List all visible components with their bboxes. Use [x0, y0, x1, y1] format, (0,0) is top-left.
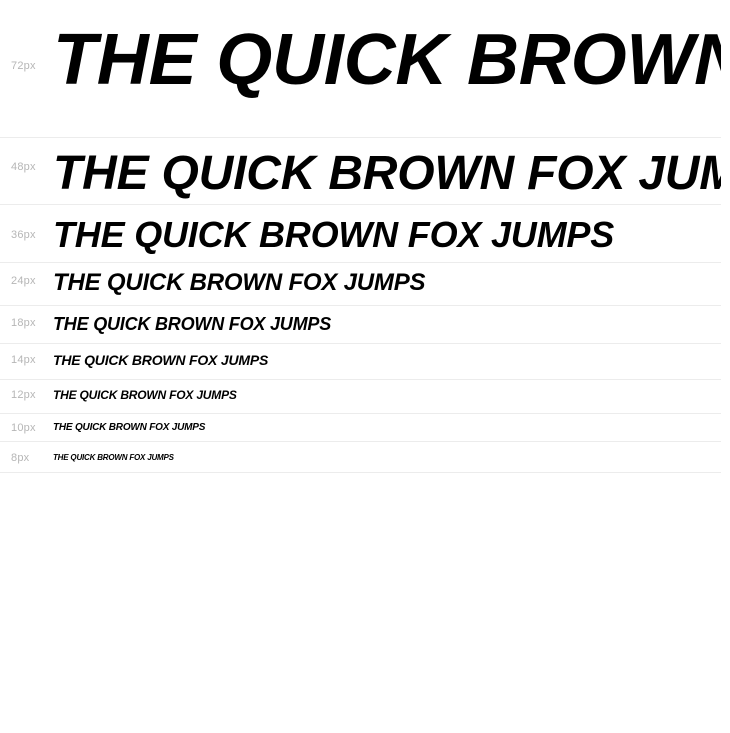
specimen-row: 18pxTHE QUICK BROWN FOX JUMPS: [0, 306, 721, 344]
specimen-row: 72pxTHE QUICK BROWN FOX JUMPS: [0, 0, 721, 138]
size-label: 12px: [11, 389, 36, 401]
specimen-row-list: 72pxTHE QUICK BROWN FOX JUMPS48pxTHE QUI…: [0, 0, 730, 473]
size-label: 48px: [11, 161, 36, 173]
empty-page-area: [0, 473, 730, 733]
specimen-row: 12pxTHE QUICK BROWN FOX JUMPS: [0, 380, 721, 414]
sample-text: THE QUICK BROWN FOX JUMPS: [53, 389, 237, 401]
specimen-row: 8pxTHE QUICK BROWN FOX JUMPS: [0, 442, 721, 473]
size-label: 18px: [11, 317, 36, 329]
sample-text: THE QUICK BROWN FOX JUMPS: [53, 217, 614, 254]
specimen-row: 10pxTHE QUICK BROWN FOX JUMPS: [0, 414, 721, 442]
size-label: 24px: [11, 275, 36, 287]
sample-text: THE QUICK BROWN FOX JUMPS: [53, 454, 174, 462]
size-label: 36px: [11, 229, 36, 241]
size-label: 72px: [11, 60, 36, 72]
size-label: 14px: [11, 354, 36, 366]
specimen-row: 14pxTHE QUICK BROWN FOX JUMPS: [0, 344, 721, 380]
specimen-row: 24pxTHE QUICK BROWN FOX JUMPS: [0, 263, 721, 306]
size-label: 10px: [11, 422, 36, 434]
sample-text: THE QUICK BROWN FOX JUMPS: [53, 423, 205, 433]
specimen-row: 48pxTHE QUICK BROWN FOX JUMPS: [0, 138, 721, 205]
font-size-specimen-sheet: 72pxTHE QUICK BROWN FOX JUMPS48pxTHE QUI…: [0, 0, 730, 700]
size-label: 8px: [11, 452, 29, 464]
sample-text: THE QUICK BROWN FOX JUMPS: [53, 271, 425, 295]
sample-text: THE QUICK BROWN FOX JUMPS: [53, 150, 721, 199]
sample-text: THE QUICK BROWN FOX JUMPS: [53, 353, 268, 367]
sample-text: THE QUICK BROWN FOX JUMPS: [53, 24, 721, 97]
sample-text: THE QUICK BROWN FOX JUMPS: [53, 315, 331, 333]
specimen-row: 36pxTHE QUICK BROWN FOX JUMPS: [0, 205, 721, 263]
